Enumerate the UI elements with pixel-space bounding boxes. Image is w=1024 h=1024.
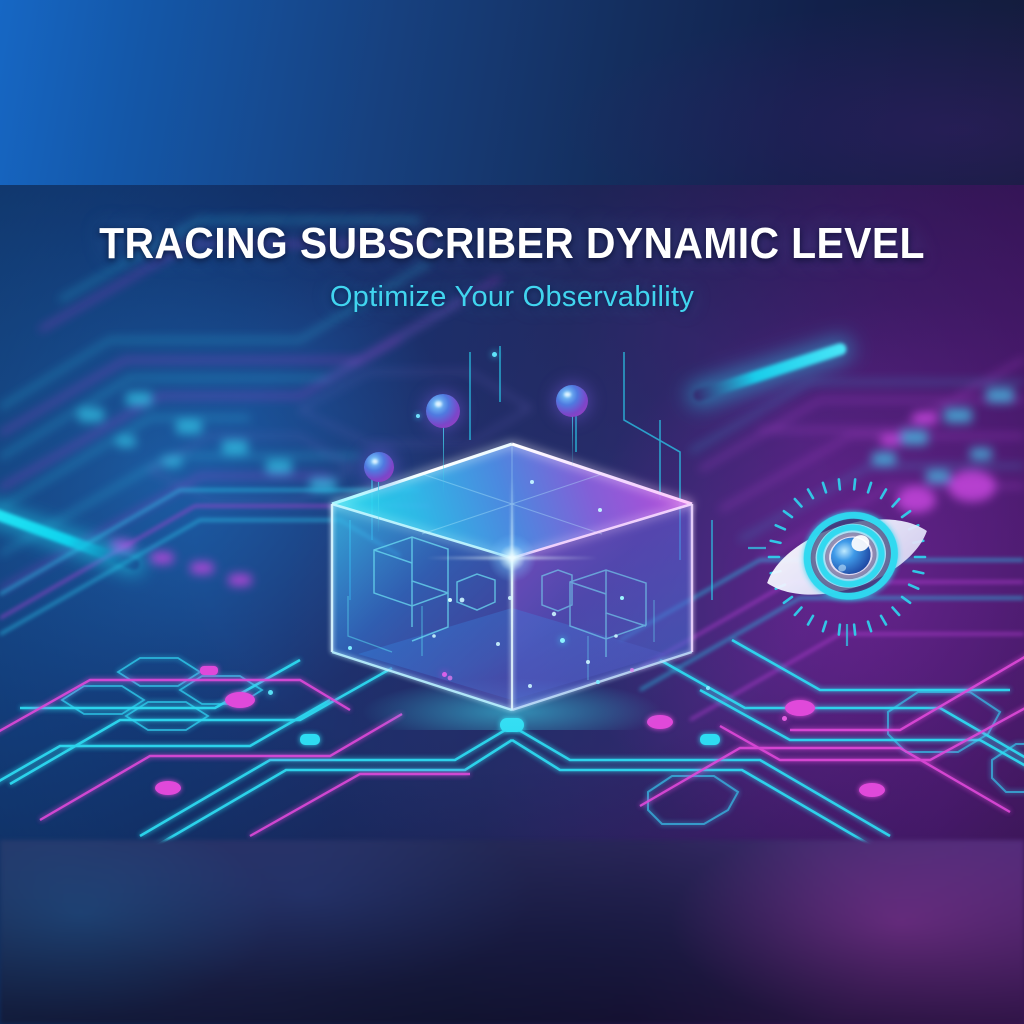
- sphere-highlight: [372, 459, 379, 464]
- isometric-cube: [302, 400, 722, 730]
- cube-center-glow: [488, 534, 536, 582]
- particle-dot: [416, 414, 420, 418]
- particle-dot: [596, 680, 600, 684]
- observability-eye-icon: [744, 464, 950, 650]
- particle-dot: [492, 352, 497, 357]
- sphere-highlight: [435, 401, 442, 407]
- page-title: TRACING SUBSCRIBER DYNAMIC LEVEL: [36, 185, 988, 266]
- bottom-letterbox-band: [0, 840, 1024, 1024]
- floating-sphere: [364, 452, 394, 482]
- hero-banner: TRACING SUBSCRIBER DYNAMIC LEVEL Optimiz…: [0, 0, 1024, 1024]
- sphere-highlight: [564, 392, 571, 397]
- hero-text-block: TRACING SUBSCRIBER DYNAMIC LEVEL Optimiz…: [0, 185, 1024, 312]
- particle-dot: [706, 686, 710, 690]
- particle-dot: [620, 596, 624, 600]
- floating-sphere: [556, 385, 588, 417]
- particle-dot: [442, 672, 447, 677]
- particle-dot: [560, 638, 565, 643]
- sphere-stem: [378, 474, 379, 532]
- particle-dot: [782, 716, 787, 721]
- particle-dot: [268, 690, 273, 695]
- particle-dot: [598, 508, 602, 512]
- sphere-stem: [443, 420, 444, 494]
- particle-dot: [530, 480, 534, 484]
- top-letterbox-band: [0, 0, 1024, 185]
- bottom-band-sheen: [0, 840, 1024, 1024]
- floating-sphere: [426, 394, 460, 428]
- page-subtitle: Optimize Your Observability: [0, 266, 1024, 312]
- particle-dot: [448, 598, 452, 602]
- particle-dot: [348, 646, 352, 650]
